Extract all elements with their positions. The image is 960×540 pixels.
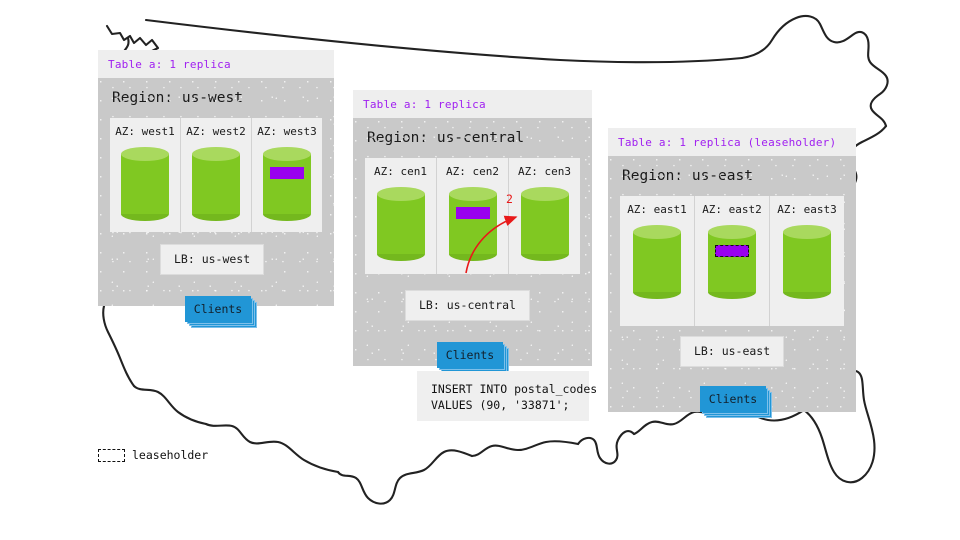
table-replica-label-us-central: Table a: 1 replica (363, 98, 582, 111)
legend-leaseholder-swatch-icon (98, 449, 125, 462)
az-cell-cen3[interactable]: AZ: cen3 (509, 158, 580, 274)
az-cell-east1[interactable]: AZ: east1 (620, 196, 695, 326)
cylinder-top (783, 225, 831, 239)
cylinder-body (377, 194, 425, 254)
node-cylinder-cen3[interactable] (521, 187, 569, 261)
panel-body-us-west: Region: us-west AZ: west1 AZ: west2 (98, 78, 334, 306)
node-cylinder-east3[interactable] (783, 225, 831, 299)
az-label-west3: AZ: west3 (252, 125, 322, 138)
legend-leaseholder-label: leaseholder (132, 448, 208, 462)
az-label-east2: AZ: east2 (695, 203, 769, 216)
cylinder-top (449, 187, 497, 201)
az-cell-west1[interactable]: AZ: west1 (110, 118, 181, 232)
load-balancer-us-east[interactable]: LB: us-east (680, 336, 784, 367)
az-label-east1: AZ: east1 (620, 203, 694, 216)
table-replica-label-us-west: Table a: 1 replica (108, 58, 324, 71)
az-label-cen1: AZ: cen1 (365, 165, 436, 178)
cylinder-top (377, 187, 425, 201)
legend: leaseholder (98, 448, 208, 462)
region-panel-us-east: Table a: 1 replica (leaseholder) Region:… (608, 128, 856, 412)
panel-header-us-central: Table a: 1 replica (353, 90, 592, 118)
arrow-step-label-2: 2 (506, 192, 513, 206)
cylinder-body (783, 232, 831, 292)
clients-label-us-central: Clients (437, 342, 503, 368)
replica-marker-cen2 (456, 207, 490, 219)
region-title-us-east: Region: us-east (622, 168, 844, 184)
panel-header-us-east: Table a: 1 replica (leaseholder) (608, 128, 856, 156)
cylinder-top (192, 147, 240, 161)
clients-label-us-east: Clients (700, 386, 766, 412)
clients-label-us-west: Clients (185, 296, 251, 322)
az-cell-east3[interactable]: AZ: east3 (770, 196, 844, 326)
clients-button-us-west[interactable]: Clients (185, 296, 251, 322)
cylinder-body (521, 194, 569, 254)
cylinder-top (121, 147, 169, 161)
az-cell-cen1[interactable]: AZ: cen1 (365, 158, 437, 274)
az-cell-cen2[interactable]: AZ: cen2 (437, 158, 509, 274)
cylinder-top (633, 225, 681, 239)
az-strip-us-central: AZ: cen1 AZ: cen2 (365, 158, 580, 274)
az-label-cen2: AZ: cen2 (437, 165, 508, 178)
region-panel-us-central: Table a: 1 replica Region: us-central AZ… (353, 90, 592, 366)
panel-body-us-central: Region: us-central AZ: cen1 AZ: cen2 (353, 118, 592, 366)
node-cylinder-west3[interactable] (263, 147, 311, 221)
az-label-cen3: AZ: cen3 (509, 165, 580, 178)
diagram-canvas: Table a: 1 replica Region: us-west AZ: w… (0, 0, 960, 540)
panel-header-us-west: Table a: 1 replica (98, 50, 334, 78)
replica-marker-west3 (270, 167, 304, 179)
cylinder-body (121, 154, 169, 214)
az-cell-west3[interactable]: AZ: west3 (252, 118, 322, 232)
cylinder-body (263, 154, 311, 214)
load-balancer-us-west[interactable]: LB: us-west (160, 244, 264, 275)
region-title-us-west: Region: us-west (112, 90, 322, 106)
sql-statement-box: INSERT INTO postal_codes VALUES (90, '33… (417, 371, 589, 421)
cylinder-body (192, 154, 240, 214)
node-cylinder-west1[interactable] (121, 147, 169, 221)
table-replica-label-us-east: Table a: 1 replica (leaseholder) (618, 136, 846, 149)
az-label-west2: AZ: west2 (181, 125, 251, 138)
az-label-west1: AZ: west1 (110, 125, 180, 138)
node-cylinder-cen2[interactable] (449, 187, 497, 261)
az-cell-east2[interactable]: AZ: east2 (695, 196, 770, 326)
cylinder-body (449, 194, 497, 254)
cylinder-top (708, 225, 756, 239)
clients-button-us-east[interactable]: Clients (700, 386, 766, 412)
az-label-east3: AZ: east3 (770, 203, 844, 216)
cylinder-body (633, 232, 681, 292)
node-cylinder-west2[interactable] (192, 147, 240, 221)
az-cell-west2[interactable]: AZ: west2 (181, 118, 252, 232)
az-strip-us-west: AZ: west1 AZ: west2 AZ (110, 118, 322, 232)
cylinder-body (708, 232, 756, 292)
cylinder-top (521, 187, 569, 201)
clients-button-us-central[interactable]: Clients (437, 342, 503, 368)
node-cylinder-east2[interactable] (708, 225, 756, 299)
node-cylinder-cen1[interactable] (377, 187, 425, 261)
az-strip-us-east: AZ: east1 AZ: east2 (620, 196, 844, 326)
load-balancer-us-central[interactable]: LB: us-central (405, 290, 530, 321)
region-title-us-central: Region: us-central (367, 130, 580, 146)
panel-body-us-east: Region: us-east AZ: east1 AZ: east2 (608, 156, 856, 412)
cylinder-top (263, 147, 311, 161)
node-cylinder-east1[interactable] (633, 225, 681, 299)
leaseholder-replica-marker-east2 (715, 245, 749, 257)
region-panel-us-west: Table a: 1 replica Region: us-west AZ: w… (98, 50, 334, 306)
